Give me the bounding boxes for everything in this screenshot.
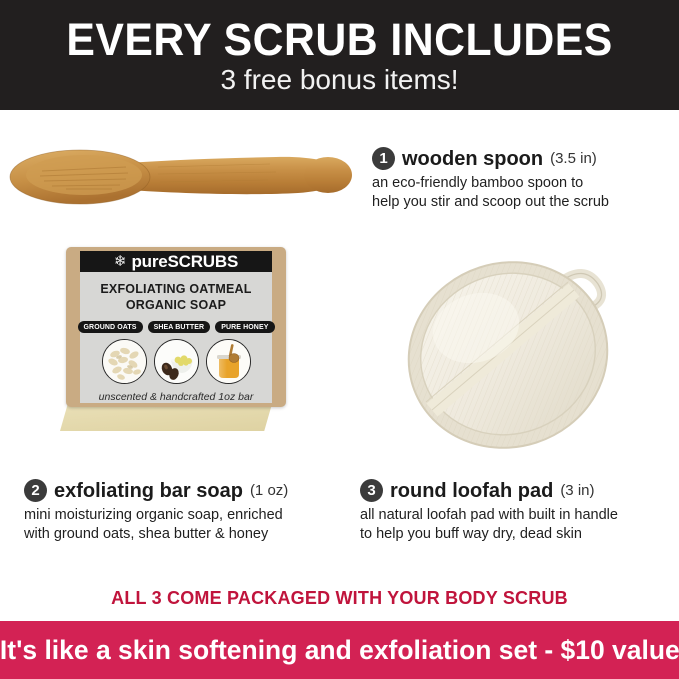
item-3-desc-line1: all natural loofah pad with built in han… <box>360 506 672 525</box>
brand-name: pureSCRUBS <box>131 253 238 270</box>
item-2-title: exfoliating bar soap <box>54 481 243 501</box>
item-1-desc-line2: help you stir and scoop out the scrub <box>372 193 672 212</box>
wooden-spoon-photo <box>8 143 353 213</box>
loofah-pad-photo <box>398 242 628 457</box>
item-2-number-badge: 2 <box>24 479 47 502</box>
item-3-heading: 3 round loofah pad (3 in) <box>360 479 672 502</box>
item-3-size: (3 in) <box>560 483 594 498</box>
item-3-text-block: 3 round loofah pad (3 in) all natural lo… <box>360 479 672 545</box>
item-2-desc-line2: with ground oats, shea butter & honey <box>24 525 344 544</box>
item-2-text-block: 2 exfoliating bar soap (1 oz) mini moist… <box>24 479 344 545</box>
item-1-title: wooden spoon <box>402 149 543 169</box>
item-1-text-block: 1 wooden spoon (3.5 in) an eco-friendly … <box>372 147 672 213</box>
soap-label-panel: ❄ pureSCRUBS EXFOLIATING OATMEAL ORGANIC… <box>80 251 272 403</box>
soap-title-line2: ORGANIC SOAP <box>100 297 251 313</box>
soap-package-box: ❄ pureSCRUBS EXFOLIATING OATMEAL ORGANIC… <box>66 247 286 407</box>
item-2-desc-line1: mini moisturizing organic soap, enriched <box>24 506 344 525</box>
item-1-desc-line1: an eco-friendly bamboo spoon to <box>372 174 672 193</box>
ingredient-pill: PURE HONEY <box>215 321 274 333</box>
item-3-number-badge: 3 <box>360 479 383 502</box>
page-title: EVERY SCRUB INCLUDES <box>66 17 612 62</box>
shea-butter-photo <box>154 339 199 384</box>
mandala-logo-icon: ❄ <box>114 254 127 269</box>
ingredient-photo-row <box>102 339 251 384</box>
bar-soap-photo: ❄ pureSCRUBS EXFOLIATING OATMEAL ORGANIC… <box>52 247 302 452</box>
pure-honey-photo <box>206 339 251 384</box>
packaged-note: ALL 3 COME PACKAGED WITH YOUR BODY SCRUB <box>0 588 679 609</box>
item-3-desc-line2: to help you buff way dry, dead skin <box>360 525 672 544</box>
soap-brand-bar: ❄ pureSCRUBS <box>80 251 272 272</box>
soap-title: EXFOLIATING OATMEAL ORGANIC SOAP <box>100 281 251 313</box>
page-subtitle: 3 free bonus items! <box>220 66 458 94</box>
infographic-page: EVERY SCRUB INCLUDES 3 free bonus items! <box>0 0 679 679</box>
ground-oats-photo <box>102 339 147 384</box>
header-banner: EVERY SCRUB INCLUDES 3 free bonus items! <box>0 0 679 110</box>
item-1-heading: 1 wooden spoon (3.5 in) <box>372 147 672 170</box>
ingredient-pill-row: GROUND OATS SHEA BUTTER PURE HONEY <box>78 321 275 333</box>
item-2-size: (1 oz) <box>250 483 288 498</box>
value-banner: It's like a skin softening and exfoliati… <box>0 621 679 679</box>
item-3-title: round loofah pad <box>390 481 553 501</box>
soap-title-line1: EXFOLIATING OATMEAL <box>100 281 251 297</box>
item-1-size: (3.5 in) <box>550 151 597 166</box>
ingredient-pill: GROUND OATS <box>78 321 143 333</box>
soap-footer-text: unscented & handcrafted 1oz bar <box>99 391 254 403</box>
value-banner-text: It's like a skin softening and exfoliati… <box>0 635 679 666</box>
item-2-heading: 2 exfoliating bar soap (1 oz) <box>24 479 344 502</box>
item-1-number-badge: 1 <box>372 147 395 170</box>
ingredient-pill: SHEA BUTTER <box>148 321 211 333</box>
